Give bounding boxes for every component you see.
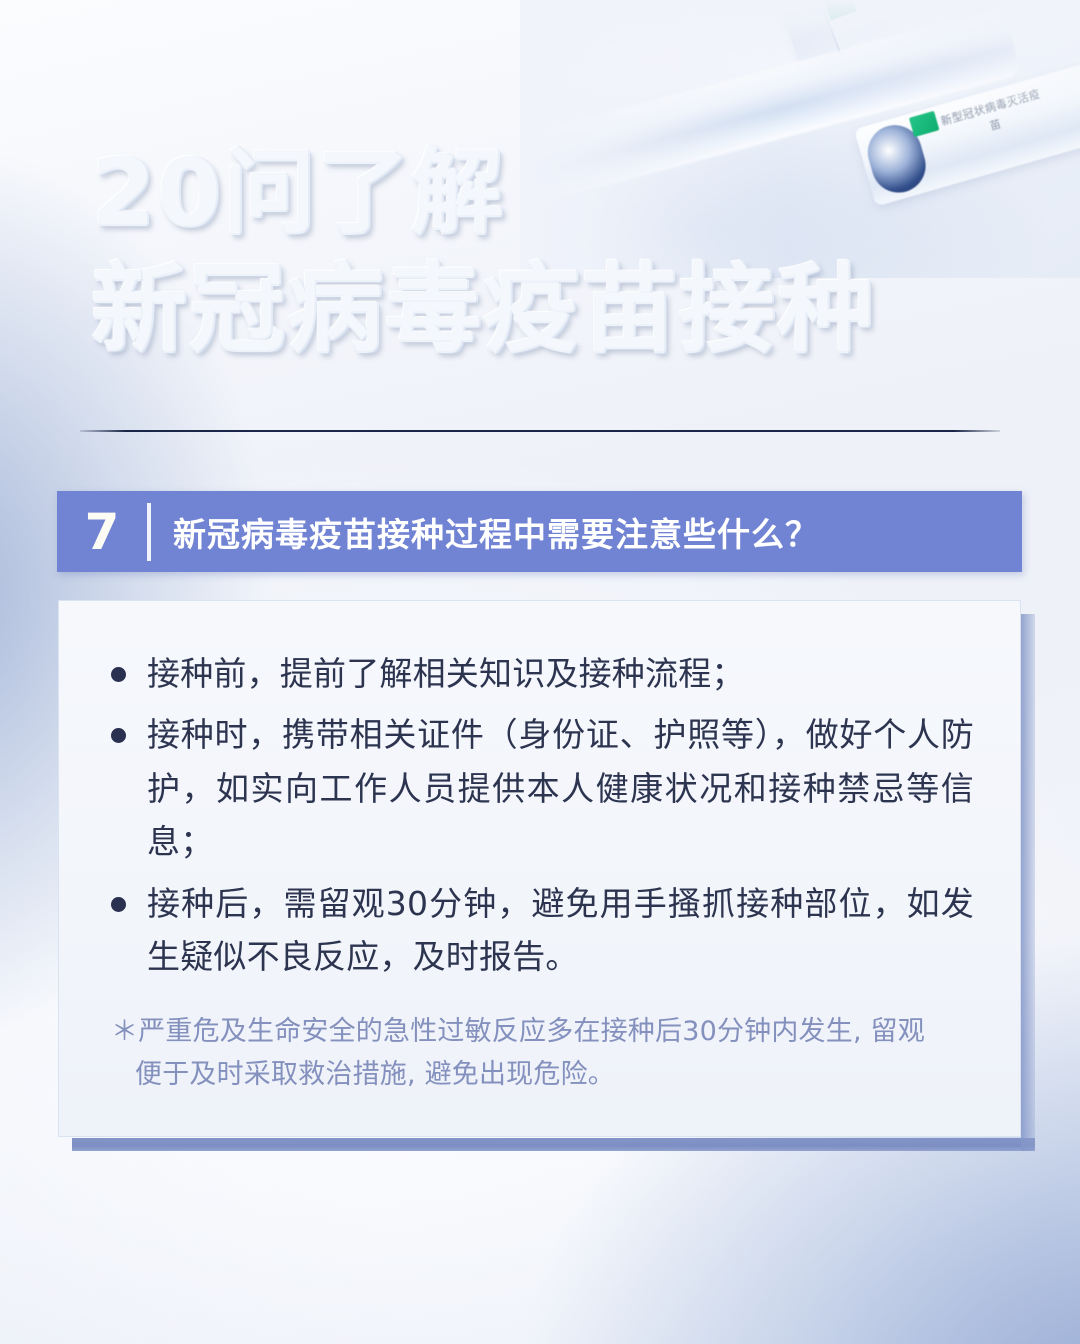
- answer-bullet-list: 接种前，提前了解相关知识及接种流程； 接种时，携带相关证件（身份证、护照等），做…: [105, 647, 974, 984]
- footnote-line-1: ＊严重危及生命安全的急性过敏反应多在接种后30分钟内发生, 留观: [111, 1016, 925, 1047]
- vial-label-lower: 新型冠状病毒灭活疫 苗: [939, 85, 1047, 147]
- answer-card: 接种前，提前了解相关知识及接种流程； 接种时，携带相关证件（身份证、护照等），做…: [58, 600, 1021, 1137]
- footnote-line-2: 便于及时采取救治措施, 避免出现危险。: [111, 1053, 974, 1097]
- vial-green-block-upper-icon: [823, 0, 857, 21]
- headline-line-1: 20问了解: [92, 148, 992, 240]
- question-text: 新冠病毒疫苗接种过程中需要注意些什么？: [151, 508, 819, 556]
- horizontal-divider: [80, 430, 1000, 432]
- list-item: 接种前，提前了解相关知识及接种流程；: [105, 647, 974, 700]
- card-drop-shadow: [72, 1138, 1035, 1151]
- list-item: 接种时，携带相关证件（身份证、护照等），做好个人防护，如实向工作人员提供本人健康…: [105, 708, 974, 868]
- footnote: ＊严重危及生命安全的急性过敏反应多在接种后30分钟内发生, 留观 便于及时采取救…: [105, 1010, 974, 1097]
- question-number: 7: [57, 507, 147, 557]
- poster-root: 新型冠状病毒灭活疫 苗 新型冠状病毒灭活疫 苗 20问了解 新冠病毒疫苗接种 7…: [0, 0, 1080, 1344]
- headline: 20问了解 新冠病毒疫苗接种: [92, 148, 992, 358]
- list-item: 接种后，需留观30分钟，避免用手搔抓接种部位，如发生疑似不良反应，及时报告。: [105, 877, 974, 984]
- card-right-edge-shadow: [1021, 614, 1035, 1151]
- vial-green-block-lower-icon: [909, 111, 940, 137]
- headline-line-2: 新冠病毒疫苗接种: [92, 262, 992, 358]
- question-bar: 7 新冠病毒疫苗接种过程中需要注意些什么？: [57, 491, 1022, 572]
